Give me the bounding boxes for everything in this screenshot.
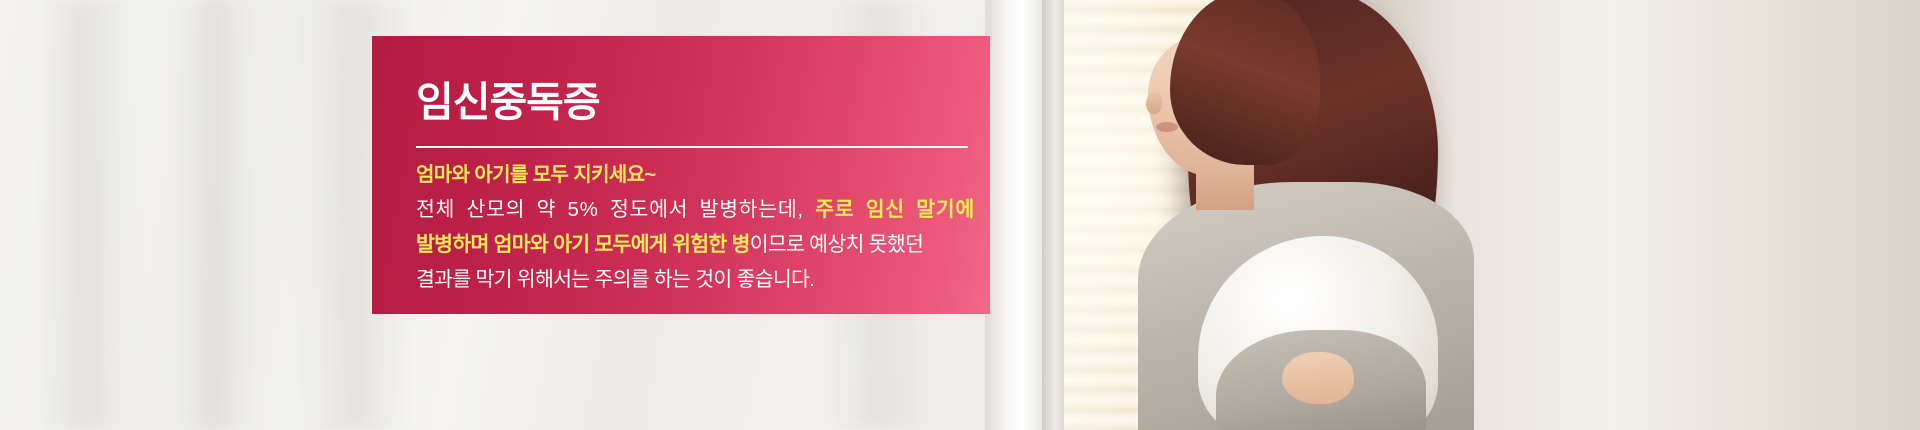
wall-shading-streak <box>180 0 250 430</box>
lips <box>1156 122 1178 132</box>
highlighted-text: 발병하며 엄마와 아기 모두에게 위험한 병 <box>416 233 750 256</box>
body-text: 결과를 막기 위해서는 주의를 하는 것이 좋습니다. <box>416 268 814 291</box>
panel-body-line: 결과를 막기 위해서는 주의를 하는 것이 좋습니다. <box>416 262 968 297</box>
info-panel-content: 임신중독증 엄마와 아기를 모두 지키세요~ 전체 산모의 약 5% 정도에서 … <box>416 36 968 314</box>
hair-front <box>1170 0 1320 165</box>
hand <box>1282 352 1354 404</box>
nose <box>1146 92 1162 114</box>
title-divider <box>416 146 968 148</box>
panel-body-text: 전체 산모의 약 5% 정도에서 발병하는데, 주로 임신 말기에발병하며 엄마… <box>416 192 968 297</box>
info-panel: 임신중독증 엄마와 아기를 모두 지키세요~ 전체 산모의 약 5% 정도에서 … <box>372 36 990 314</box>
panel-body-line: 발병하며 엄마와 아기 모두에게 위험한 병이므로 예상치 못했던 <box>416 227 968 262</box>
body-text: 전체 산모의 약 5% 정도에서 발병하는데, <box>416 198 815 221</box>
pregnant-woman-figure <box>1020 0 1540 430</box>
wall-shading-streak <box>40 0 130 430</box>
pregnancy-toxemia-banner: 임신중독증 엄마와 아기를 모두 지키세요~ 전체 산모의 약 5% 정도에서 … <box>0 0 1920 430</box>
highlighted-text: 주로 임신 말기에 <box>815 198 975 221</box>
panel-subtitle: 엄마와 아기를 모두 지키세요~ <box>416 158 656 187</box>
panel-body-line: 전체 산모의 약 5% 정도에서 발병하는데, 주로 임신 말기에 <box>416 192 968 227</box>
body-text: 이므로 예상치 못했던 <box>750 233 923 256</box>
page-title: 임신중독증 <box>416 82 600 123</box>
